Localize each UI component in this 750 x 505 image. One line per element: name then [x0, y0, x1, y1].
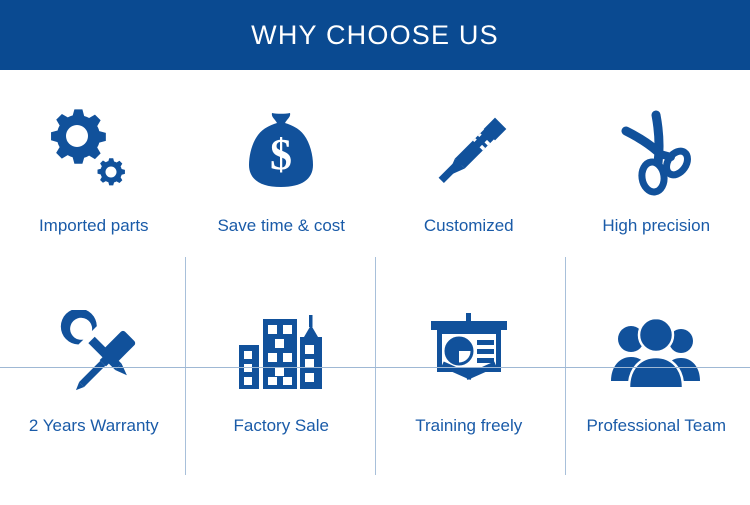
svg-text:$: $	[270, 130, 292, 179]
why-choose-us-panel: WHY CHOOSE US Imported parts	[0, 0, 750, 505]
feature-cell-save-time-cost[interactable]: $ Save time & cost	[188, 98, 376, 283]
page-title: WHY CHOOSE US	[251, 20, 499, 51]
feature-cell-training[interactable]: Training freely	[375, 298, 563, 483]
feature-label: 2 Years Warranty	[29, 416, 159, 436]
feature-cell-high-precision[interactable]: High precision	[563, 98, 750, 283]
feature-label: Imported parts	[39, 216, 149, 236]
feature-label: Save time & cost	[217, 216, 345, 236]
money-bag-icon: $	[238, 98, 324, 208]
feature-cell-customized[interactable]: Customized	[375, 98, 563, 283]
feature-label: High precision	[602, 216, 710, 236]
buildings-icon	[237, 298, 325, 408]
grid-divider-vertical-2	[375, 257, 376, 475]
feature-grid: Imported parts $ Save time & cost	[0, 70, 750, 470]
presentation-board-icon	[425, 298, 513, 408]
feature-cell-factory-sale[interactable]: Factory Sale	[188, 298, 376, 483]
pencil-cross-icon	[425, 98, 513, 208]
feature-label: Training freely	[415, 416, 522, 436]
feature-cell-warranty[interactable]: 2 Years Warranty	[0, 298, 188, 483]
feature-label: Professional Team	[586, 416, 726, 436]
feature-label: Customized	[424, 216, 514, 236]
grid-divider-horizontal	[0, 367, 750, 368]
feature-cell-imported-parts[interactable]: Imported parts	[0, 98, 188, 283]
header-banner: WHY CHOOSE US	[0, 0, 750, 70]
feature-label: Factory Sale	[234, 416, 329, 436]
feature-cell-professional-team[interactable]: Professional Team	[563, 298, 750, 483]
wrench-screwdriver-icon	[51, 298, 137, 408]
gears-icon	[48, 98, 140, 208]
people-group-icon	[609, 298, 703, 408]
scissors-icon	[616, 98, 696, 208]
grid-divider-vertical-1	[185, 257, 186, 475]
grid-divider-vertical-3	[565, 257, 566, 475]
